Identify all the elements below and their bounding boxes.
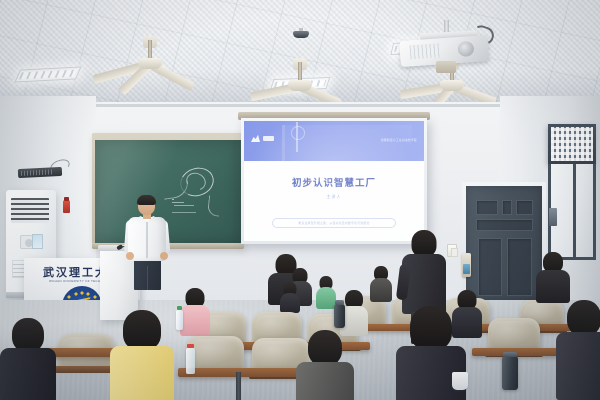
ceiling-projector <box>398 20 490 72</box>
ac-energy-label <box>32 234 43 249</box>
slide-logo-icon <box>251 134 274 142</box>
audience-person-foreground <box>296 330 354 400</box>
slide-footer-pill: 制造业转型升级之路：从自动化走向数字化与智能化 <box>272 218 396 228</box>
thermos[interactable] <box>502 356 518 390</box>
water-bottle[interactable] <box>186 348 195 374</box>
thermos[interactable] <box>334 304 345 328</box>
seat-leg <box>236 372 241 400</box>
window-grille <box>551 127 593 161</box>
classroom-door[interactable] <box>466 186 542 300</box>
presenter <box>126 196 168 290</box>
slide-banner-tower-icon <box>296 122 298 152</box>
slide-title: 初步认识智慧工厂 <box>244 175 424 189</box>
audience-person <box>316 276 336 308</box>
water-bottle[interactable] <box>176 310 183 330</box>
dome-security-camera-icon <box>293 28 309 38</box>
audience-person <box>180 288 210 336</box>
slide-subtitle: 主讲人 <box>244 194 424 200</box>
ac-vent-grille <box>11 198 49 223</box>
slide-body: 初步认识智慧工厂 主讲人 制造业转型升级之路：从自动化走向数字化与智能化 <box>244 161 424 241</box>
slide-banner: 智能制造与工业自动化学院 <box>244 121 424 161</box>
auditorium-seat[interactable] <box>488 318 540 352</box>
audience-person <box>370 266 392 302</box>
light-switch[interactable] <box>447 244 457 257</box>
fire-alarm-icon <box>63 200 70 213</box>
window-latch[interactable] <box>549 208 557 226</box>
audience-person-foreground <box>0 318 56 400</box>
audience-person-foreground <box>110 310 174 400</box>
audience-person <box>280 282 300 312</box>
slide-banner-right-text: 智能制造与工业自动化学院 <box>381 138 417 142</box>
audience-person-foreground <box>556 300 600 400</box>
audience-person <box>536 252 570 302</box>
projector-lens-icon <box>457 41 474 57</box>
projection-screen: 智能制造与工业自动化学院 初步认识智慧工厂 主讲人 制造业转型升级之路：从自动化… <box>244 121 424 241</box>
wall-trim <box>96 104 500 107</box>
slide-footer-text: 制造业转型升级之路：从自动化走向数字化与智能化 <box>298 221 369 225</box>
door-handle[interactable] <box>462 253 471 277</box>
paper-cup[interactable] <box>452 372 468 390</box>
lecture-hall-photo: 智能制造与工业自动化学院 初步认识智慧工厂 主讲人 制造业转型升级之路：从自动化… <box>0 0 600 400</box>
